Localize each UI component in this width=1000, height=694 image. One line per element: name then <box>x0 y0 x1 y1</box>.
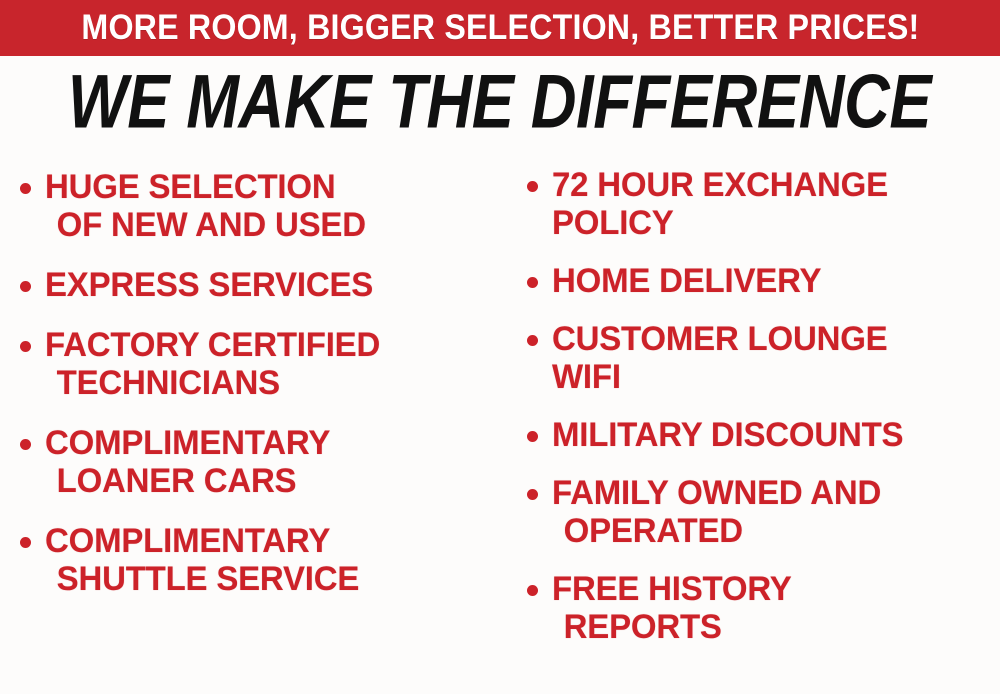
list-item-text: CUSTOMER LOUNGE WIFI <box>552 320 887 396</box>
list-item: FAMILY OWNED AND OPERATED <box>527 474 1000 550</box>
list-item-line1: COMPLIMENTARY <box>45 522 330 560</box>
list-item-line1: EXPRESS SERVICES <box>45 266 373 304</box>
list-item: 72 HOUR EXCHANGE POLICY <box>527 166 1000 242</box>
benefits-column-right: 72 HOUR EXCHANGE POLICY HOME DELIVERY CU… <box>505 156 1000 694</box>
bullet-dot-icon <box>527 335 538 346</box>
list-item-text: COMPLIMENTARY LOANER CARS <box>45 424 330 500</box>
list-item-line1: 72 HOUR EXCHANGE <box>552 166 888 204</box>
bullet-dot-icon <box>527 277 538 288</box>
bullet-dot-icon <box>527 181 538 192</box>
list-item-line1: FAMILY OWNED AND <box>552 474 881 512</box>
list-item-text: FREE HISTORY REPORTS <box>552 570 792 646</box>
list-item-line1: MILITARY DISCOUNTS <box>552 416 903 454</box>
list-item-text: EXPRESS SERVICES <box>45 266 373 304</box>
bullet-dot-icon <box>527 489 538 500</box>
list-item: CUSTOMER LOUNGE WIFI <box>527 320 1000 396</box>
list-item-line1: HUGE SELECTION <box>45 168 335 206</box>
list-item: HOME DELIVERY <box>527 262 1000 300</box>
bullet-dot-icon <box>20 341 31 352</box>
benefits-column-left: HUGE SELECTION OF NEW AND USED EXPRESS S… <box>0 156 505 694</box>
banner-headline-text: MORE ROOM, BIGGER SELECTION, BETTER PRIC… <box>81 10 919 46</box>
list-item-text: FAMILY OWNED AND OPERATED <box>552 474 881 550</box>
list-item-text: MILITARY DISCOUNTS <box>552 416 903 454</box>
list-item: COMPLIMENTARY LOANER CARS <box>20 424 505 500</box>
list-item-line1: CUSTOMER LOUNGE <box>552 320 887 358</box>
list-item: COMPLIMENTARY SHUTTLE SERVICE <box>20 522 505 598</box>
list-item: FREE HISTORY REPORTS <box>527 570 1000 646</box>
list-item: EXPRESS SERVICES <box>20 266 505 304</box>
bullet-dot-icon <box>527 585 538 596</box>
list-item-line2: POLICY <box>552 204 888 242</box>
list-item-line1: FACTORY CERTIFIED <box>45 326 380 364</box>
benefits-columns: HUGE SELECTION OF NEW AND USED EXPRESS S… <box>0 156 1000 694</box>
list-item-line2: SHUTTLE SERVICE <box>45 560 359 598</box>
bullet-dot-icon <box>20 281 31 292</box>
list-item-line2: OF NEW AND USED <box>45 206 366 244</box>
list-item: FACTORY CERTIFIED TECHNICIANS <box>20 326 505 402</box>
page-title: WE MAKE THE DIFFERENCE <box>68 63 931 141</box>
bullet-dot-icon <box>527 431 538 442</box>
list-item-line1: HOME DELIVERY <box>552 262 821 300</box>
list-item: MILITARY DISCOUNTS <box>527 416 1000 454</box>
list-item-text: COMPLIMENTARY SHUTTLE SERVICE <box>45 522 359 598</box>
promotional-poster: MORE ROOM, BIGGER SELECTION, BETTER PRIC… <box>0 0 1000 694</box>
top-banner: MORE ROOM, BIGGER SELECTION, BETTER PRIC… <box>0 0 1000 56</box>
list-item-text: HOME DELIVERY <box>552 262 821 300</box>
list-item-text: HUGE SELECTION OF NEW AND USED <box>45 168 366 244</box>
bullet-dot-icon <box>20 537 31 548</box>
list-item-line2: REPORTS <box>552 608 792 646</box>
list-item-line2: LOANER CARS <box>45 462 330 500</box>
bullet-dot-icon <box>20 183 31 194</box>
bullet-dot-icon <box>20 439 31 450</box>
list-item-text: 72 HOUR EXCHANGE POLICY <box>552 166 888 242</box>
list-item-line1: FREE HISTORY <box>552 570 792 608</box>
headline-container: WE MAKE THE DIFFERENCE <box>0 62 1000 142</box>
list-item-line1: COMPLIMENTARY <box>45 424 330 462</box>
list-item-line2: TECHNICIANS <box>45 364 380 402</box>
list-item-line2: OPERATED <box>552 512 881 550</box>
list-item-text: FACTORY CERTIFIED TECHNICIANS <box>45 326 380 402</box>
list-item: HUGE SELECTION OF NEW AND USED <box>20 168 505 244</box>
list-item-line2: WIFI <box>552 358 887 396</box>
